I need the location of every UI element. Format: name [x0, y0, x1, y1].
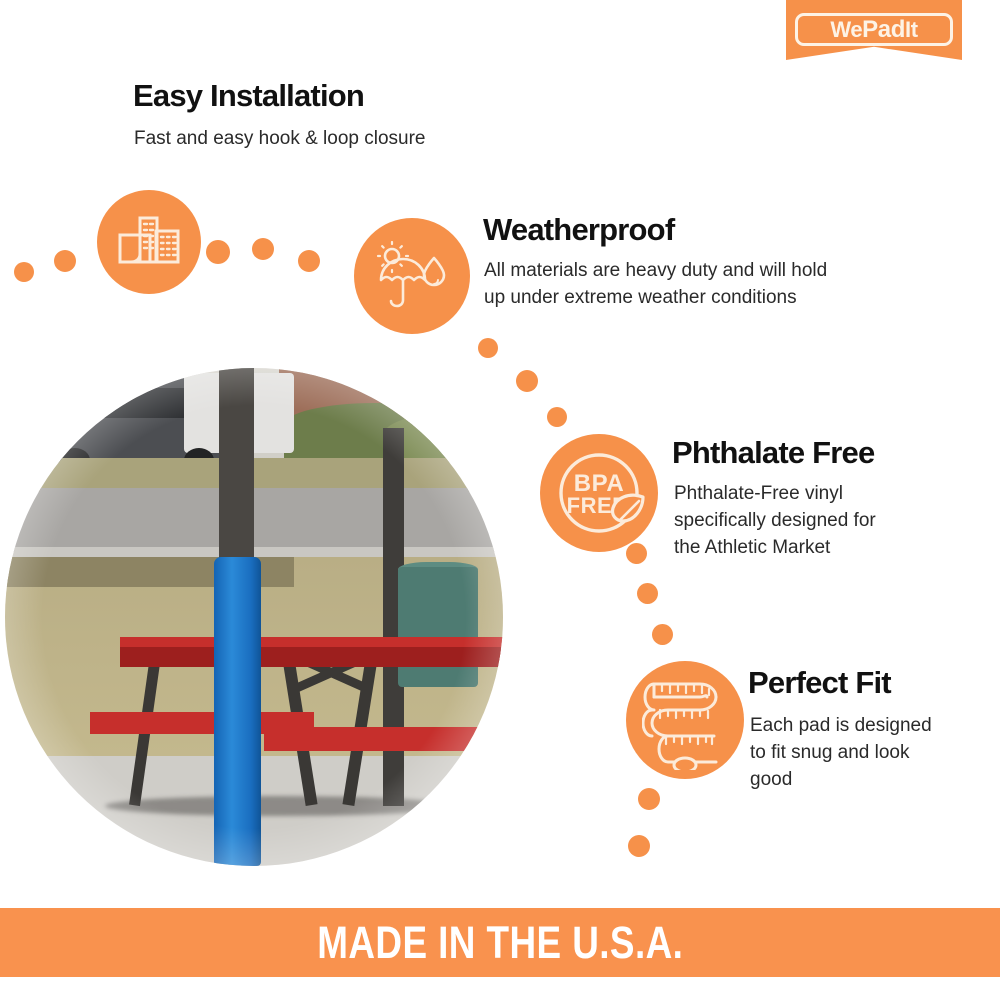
- logo-text-pad: Pad: [862, 16, 905, 43]
- perfect-fit-line-1: Each pad is designed: [750, 713, 932, 740]
- trail-dot: [652, 624, 673, 645]
- phthalate-line-3: the Athletic Market: [674, 535, 876, 562]
- trail-dot: [547, 407, 567, 427]
- feature-title-weatherproof: Weatherproof: [483, 214, 674, 247]
- weatherproof-line-1: All materials are heavy duty and will ho…: [484, 258, 827, 285]
- building-installation-icon: [97, 190, 201, 294]
- sun-umbrella-raindrop-icon: [354, 218, 470, 334]
- trail-dot: [14, 262, 34, 282]
- feature-subtitle-easy-installation: Fast and easy hook & loop closure: [134, 126, 426, 153]
- perfect-fit-line-3: good: [750, 767, 932, 794]
- trail-dot: [54, 250, 76, 272]
- feature-subtitle-perfect-fit: Each pad is designed to fit snug and loo…: [750, 713, 932, 794]
- trail-dot: [298, 250, 320, 272]
- trail-dot: [206, 240, 230, 264]
- phthalate-line-2: specifically designed for: [674, 508, 876, 535]
- logo-text-it: It: [905, 17, 918, 42]
- feature-subtitle-phthalate-free: Phthalate-Free vinyl specifically design…: [674, 481, 876, 562]
- feature-subtitle-weatherproof: All materials are heavy duty and will ho…: [484, 258, 827, 312]
- measuring-tape-icon: [626, 661, 744, 779]
- made-in-usa-banner: MADE IN THE U.S.A.: [0, 908, 1000, 977]
- weatherproof-line-2: up under extreme weather conditions: [484, 285, 827, 312]
- phthalate-line-1: Phthalate-Free vinyl: [674, 481, 876, 508]
- perfect-fit-line-2: to fit snug and look: [750, 740, 932, 767]
- feature-title-easy-installation: Easy Installation: [133, 80, 364, 113]
- feature-title-phthalate-free: Phthalate Free: [672, 437, 874, 470]
- trail-dot: [252, 238, 274, 260]
- product-photo-blue-pole-pad: [5, 368, 503, 866]
- brand-logo-text: WePadIt: [830, 18, 917, 42]
- made-in-usa-text: MADE IN THE U.S.A.: [317, 917, 683, 969]
- trail-dot: [626, 543, 647, 564]
- trail-dot: [516, 370, 538, 392]
- trail-dot: [638, 788, 660, 810]
- feature-title-perfect-fit: Perfect Fit: [748, 667, 891, 700]
- bpa-free-leaf-icon: BPA FREE: [540, 434, 658, 552]
- trail-dot: [478, 338, 498, 358]
- trail-dot: [637, 583, 658, 604]
- infographic-page: WePadIt Easy Installation Fast and easy …: [0, 0, 1000, 987]
- logo-text-we: We: [830, 17, 862, 42]
- brand-logo-box: WePadIt: [795, 13, 953, 46]
- trail-dot: [628, 835, 650, 857]
